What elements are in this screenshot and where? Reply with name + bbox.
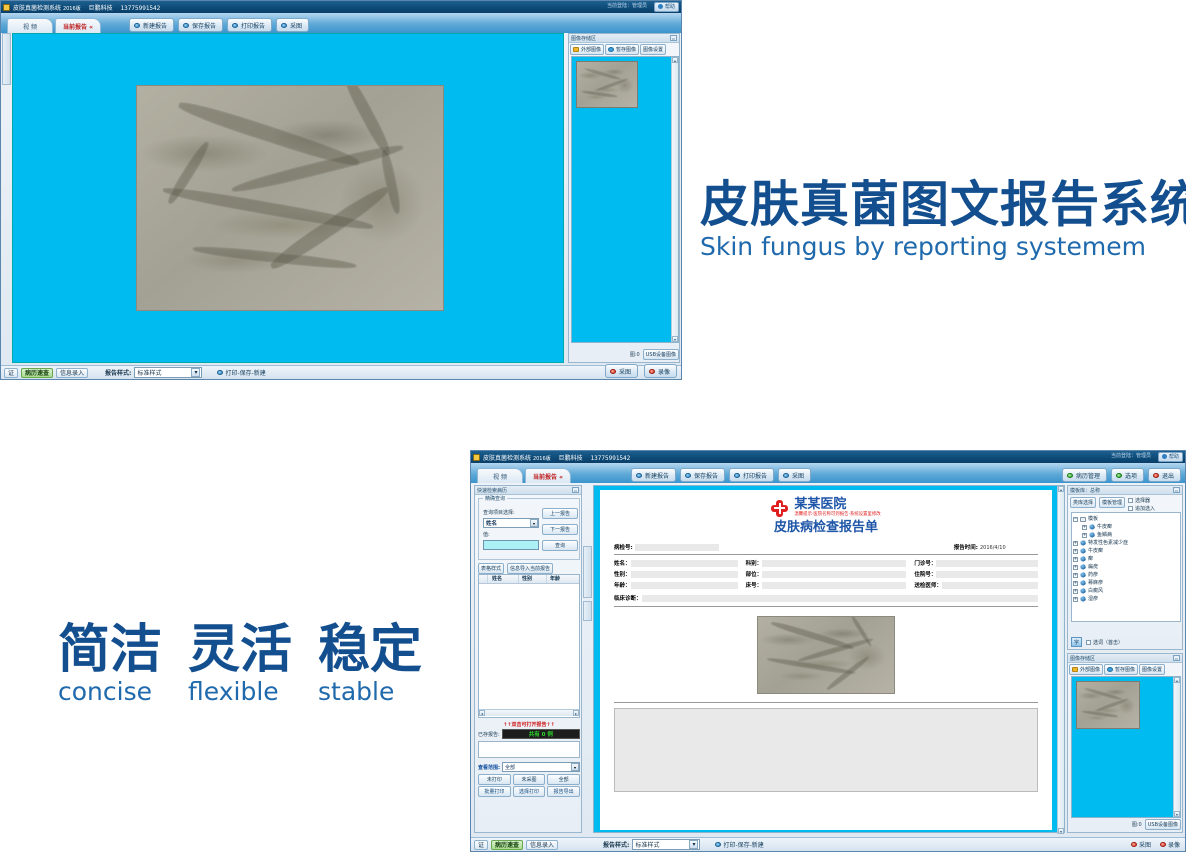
report-page[interactable]: 某某医院 温馨提示·医院名称可到报告·系统设置里修改 皮肤病检查报告单 病检号:… — [600, 490, 1052, 830]
capture-image-button-2[interactable]: 采图 — [778, 468, 811, 482]
scope-row: 查看范围: 全部 ▾ — [478, 762, 580, 772]
image-store-list-2[interactable]: ▴ ▾ — [1071, 676, 1181, 818]
buffer-image-label-2: 暂存图像 — [1115, 666, 1135, 673]
report-image-area — [600, 616, 1052, 694]
save-report-label-2: 保存报告 — [694, 471, 718, 480]
image-store-list[interactable]: ▴ ▾ — [571, 56, 679, 343]
tree-expander-icon[interactable]: + — [1073, 581, 1078, 586]
word-pick-checkbox-box[interactable] — [1086, 640, 1091, 645]
usb-device-image-button[interactable]: USB设备图像 — [643, 349, 679, 360]
print-save-new-icon — [217, 370, 223, 375]
template-collapse-icon[interactable]: ▫ — [1173, 487, 1180, 493]
filter-not-captured-label: 未采图 — [522, 776, 537, 783]
tree-item[interactable]: + 药疹 — [1073, 571, 1179, 579]
tree-item-label: 扁疣 — [1088, 563, 1098, 571]
external-image-button[interactable]: 外部图像 — [570, 44, 604, 55]
hospital-subtitle: 温馨提示·医院名称可到报告·系统设置里修改 — [794, 512, 880, 518]
headline-en: Skin fungus by reporting systemem — [700, 232, 1180, 262]
selector-checkbox[interactable]: 选择器 — [1128, 497, 1155, 504]
tree-item-label: 药疹 — [1088, 571, 1098, 579]
image-store-panel-2: 图像存储区 ▫ 外部图像 暂存图像 图像设置 — [1067, 653, 1183, 833]
library-select-button[interactable]: 类库选择 — [1070, 497, 1096, 508]
template-library-panel: 模板库：总称 ▫ 类库选择 模板管理 选择器 追加选入 — [1067, 485, 1183, 650]
report-microscope-image[interactable] — [757, 616, 895, 694]
field-row: 门诊号： — [914, 559, 1038, 567]
exit-button[interactable]: 退出 — [1148, 468, 1181, 482]
slogan-en-2: stable — [318, 678, 422, 706]
grid-gutter — [479, 575, 488, 583]
append-checkbox-box[interactable] — [1128, 506, 1133, 511]
status-bar: 证 病历速查 信息录入 报告样式: 标准样式 ▾ 打印-保存-新建 — [1, 365, 682, 379]
quick-search-caption: 快速检索病历 — [477, 487, 507, 494]
report-style-select[interactable]: 标准样式 ▾ — [134, 367, 202, 378]
report-time-label: 报告时间: — [954, 543, 978, 551]
print-save-new-icon-2 — [715, 842, 721, 847]
gear-icon — [1080, 540, 1086, 546]
field-department-value[interactable] — [762, 560, 906, 567]
field-inpatient-no-value[interactable] — [936, 571, 1038, 578]
slogan-item: 简洁 concise — [58, 622, 162, 706]
select-print-button[interactable]: 选择打印 — [513, 786, 546, 797]
save-report-icon-2 — [685, 473, 691, 478]
word-pick-checkbox[interactable]: 选词（首击） — [1086, 639, 1123, 646]
title-tel: 13775991542 — [121, 5, 161, 12]
tree-expander-icon[interactable]: + — [1082, 525, 1087, 530]
video-canvas[interactable] — [12, 33, 564, 363]
tree-item-label: 模板 — [1088, 515, 1098, 523]
field-age-label: 年龄： — [614, 581, 631, 589]
records-icon — [1067, 473, 1073, 478]
quick-search-button[interactable]: 病历速查 — [21, 368, 53, 378]
print-save-new-button-2[interactable]: 打印-保存-新建 — [715, 840, 763, 849]
usb-device-image-label: USB设备图像 — [646, 351, 676, 358]
cert-button-2[interactable]: 证 — [474, 840, 488, 850]
field-row: 住院号： — [914, 570, 1038, 578]
gear-icon — [1080, 556, 1086, 562]
folder-open-icon-2 — [1072, 667, 1078, 672]
tab-strip-2: 视 频 当前报告 « — [477, 463, 573, 483]
diagnosis-row: 临床诊断： — [614, 594, 1038, 602]
export-report-button[interactable]: 报告导出 — [547, 786, 580, 797]
slogan-cn-1: 灵活 — [188, 622, 292, 678]
image-store-panel: 图像存储区 ▫ 外部图像 暂存图像 图像设置 — [568, 33, 680, 363]
filter-not-captured-button[interactable]: 未采图 — [513, 774, 546, 785]
scroll-right-icon[interactable]: ▸ — [573, 710, 579, 716]
image-settings-label: 图像设置 — [643, 46, 663, 53]
field-select-chevron-icon[interactable]: ▾ — [530, 519, 538, 527]
scroll-down-icon[interactable]: ▾ — [672, 336, 678, 342]
field-bed-value[interactable] — [762, 582, 906, 589]
capture-icon-bottom — [610, 369, 616, 374]
field-row: 部位： — [746, 570, 907, 578]
report-title: 皮肤病检查报告单 — [600, 519, 1052, 537]
image-store-caption-2: 图像存储区 — [1070, 655, 1095, 662]
field-gender-value[interactable] — [631, 571, 738, 578]
external-image-button-2[interactable]: 外部图像 — [1069, 664, 1103, 675]
select-print-label: 选择打印 — [519, 788, 539, 795]
template-tree[interactable]: − 模板 + 牛皮癣 + 鱼鳞病 + 特发性色素减少症 — [1072, 513, 1180, 605]
template-tree-container[interactable]: − 模板 + 牛皮癣 + 鱼鳞病 + 特发性色素减少症 — [1071, 512, 1181, 622]
buffer-image-button[interactable]: 暂存图像 — [605, 44, 639, 55]
tree-item[interactable]: + 湿疹 — [1073, 595, 1179, 603]
image-store-scrollbar[interactable]: ▴ ▾ — [671, 57, 678, 342]
saved-reports-label: 已存报告: — [478, 731, 500, 738]
field-row: 姓名： — [614, 559, 738, 567]
tree-expander-icon[interactable]: + — [1073, 573, 1078, 578]
value-input[interactable] — [483, 540, 539, 550]
save-report-button[interactable]: 保存报告 — [178, 18, 223, 32]
capture-label: 采图 — [290, 21, 302, 30]
diagnosis-value[interactable] — [642, 595, 1038, 602]
field-select-label: 查询项目选择: — [483, 509, 515, 516]
help-label: 帮助 — [665, 3, 675, 10]
double-click-hint: ↑↑双击可打开报告↑↑ — [478, 721, 580, 728]
image-count-label-2: 图:0 — [1132, 821, 1142, 828]
field-row: 送检医师： — [914, 581, 1038, 589]
scroll-down-icon-2[interactable]: ▾ — [1174, 811, 1180, 817]
filter-all-label: 全部 — [559, 776, 569, 783]
import-to-current-button[interactable]: 信息导入当前报告 — [507, 563, 553, 574]
ribbon-button-group: 新建报告 保存报告 打印报告 采图 — [129, 18, 309, 32]
title-version-2: 2016版 — [533, 456, 551, 462]
main-app-window-bottom: 皮肤真菌检测系统 2016版 巨鹏科技 13775991542 当前登陆：管理员… — [470, 450, 1186, 852]
tree-item-label: 湿疹 — [1088, 595, 1098, 603]
microscope-image-main[interactable] — [136, 85, 444, 311]
current-login-label-2: 当前登陆：管理员 — [1111, 452, 1151, 459]
info-entry-button[interactable]: 信息录入 — [56, 368, 88, 378]
print-report-icon-2 — [734, 473, 740, 478]
help-button[interactable]: 帮助 — [654, 2, 679, 12]
cert-label: 证 — [8, 368, 14, 377]
table-style-label: 表格样式 — [481, 565, 501, 572]
external-image-label-2: 外部图像 — [1080, 666, 1100, 673]
tree-item[interactable]: + 扁疣 — [1073, 563, 1179, 571]
capture-image-button[interactable]: 采图 — [276, 18, 309, 32]
tree-item[interactable]: + 鱼鳞病 — [1073, 531, 1179, 539]
print-report-button[interactable]: 打印报告 — [227, 18, 272, 32]
chevron-down-icon-2[interactable]: ▾ — [689, 840, 698, 849]
saved-reports-row: 已存报告: 共有 0 例 — [478, 729, 580, 739]
hospital-block: 某某医院 温馨提示·医院名称可到报告·系统设置里修改 — [794, 498, 880, 518]
tree-item[interactable]: + 癣 — [1073, 555, 1179, 563]
template-caption-bar: 模板库：总称 ▫ — [1068, 486, 1182, 495]
tree-item-label: 牛皮癣 — [1088, 547, 1103, 555]
tree-expander-icon[interactable]: − — [1073, 517, 1078, 522]
new-report-icon — [134, 23, 140, 28]
tree-expander-icon[interactable]: + — [1073, 565, 1078, 570]
usb-device-image-label-2: USB设备图像 — [1148, 821, 1178, 828]
title-version: 2016版 — [63, 6, 81, 12]
quick-search-caption-bar: 快速检索病历 ▫ — [475, 486, 581, 495]
tab-strip: 视 频 当前报告 « — [7, 13, 103, 33]
ribbon-bar: 视 频 当前报告 « 新建报告 保存报告 打印报告 采图 — [1, 13, 681, 33]
image-store-toolbar-2: 外部图像 暂存图像 图像设置 — [1068, 663, 1182, 676]
image-settings-button-2[interactable]: 图像设置 — [1139, 664, 1165, 675]
field-name-value[interactable] — [631, 560, 738, 567]
tab-current-report-label: 当前报告 « — [63, 22, 93, 31]
field-outpatient-no-value[interactable] — [936, 560, 1038, 567]
window-title: 皮肤真菌检测系统 2016版 巨鹏科技 13775991542 — [13, 3, 160, 12]
field-site-label: 部位： — [746, 570, 763, 578]
scope-select[interactable]: 全部 ▾ — [502, 762, 580, 772]
findings-textarea[interactable] — [614, 708, 1038, 792]
report-document-area[interactable]: 某某医院 温馨提示·医院名称可到报告·系统设置里修改 皮肤病检查报告单 病检号:… — [593, 485, 1065, 833]
panel-splitter-left-2[interactable] — [583, 601, 592, 621]
buffer-image-icon-2 — [1107, 667, 1113, 672]
help-button-2[interactable]: 帮助 — [1158, 452, 1183, 462]
records-management-button[interactable]: 病历管理 — [1062, 468, 1107, 482]
field-site-value[interactable] — [762, 571, 906, 578]
scroll-up-icon-2[interactable]: ▴ — [1174, 677, 1180, 683]
capture-label-2: 采图 — [792, 471, 804, 480]
save-report-icon — [183, 23, 189, 28]
chevron-down-icon[interactable]: ▾ — [191, 368, 200, 377]
selector-checkbox-box[interactable] — [1128, 498, 1133, 503]
tab-video-label-2: 视 频 — [493, 472, 507, 481]
slogan-cn-0: 简洁 — [58, 622, 162, 678]
field-gender-label: 性别： — [614, 570, 631, 578]
tree-item-label: 鱼鳞病 — [1097, 531, 1112, 539]
lock-icon — [3, 4, 10, 11]
table-style-button[interactable]: 表格样式 — [478, 563, 504, 574]
report-scroll-down-icon[interactable]: ▾ — [1058, 828, 1064, 834]
scope-chevron-icon[interactable]: ▾ — [571, 763, 579, 771]
search-button[interactable]: 查询 — [542, 540, 578, 551]
tree-item[interactable]: + 牛皮癣 — [1073, 523, 1179, 531]
table-toolbar: 表格样式 信息导入当前报告 — [478, 563, 580, 574]
header-rule-2 — [614, 606, 1038, 607]
tree-item-label: 白癜风 — [1088, 587, 1103, 595]
result-grid-hscrollbar[interactable]: ◂ ▸ — [479, 709, 579, 716]
image-store-scrollbar-2[interactable]: ▴ ▾ — [1173, 677, 1180, 817]
title-corp: 巨鹏科技 — [89, 5, 113, 12]
case-no-value[interactable] — [635, 544, 719, 551]
batch-print-button[interactable]: 批量打印 — [478, 786, 511, 797]
tab-video-label: 视 频 — [23, 22, 37, 31]
tree-item-label: 牛皮癣 — [1097, 523, 1112, 531]
info-entry-label: 信息录入 — [60, 368, 84, 377]
gear-icon — [1080, 588, 1086, 594]
scroll-up-icon[interactable]: ▴ — [672, 57, 678, 63]
print-save-new-label-2: 打印-保存-新建 — [723, 840, 763, 849]
options-button[interactable]: 选项 — [1111, 468, 1144, 482]
prev-report-button[interactable]: 上一报告 — [542, 508, 578, 519]
filter-all-button[interactable]: 全部 — [547, 774, 580, 785]
tree-item-label: 特发性色素减少症 — [1088, 539, 1128, 547]
record-button-bottom[interactable]: 录像 — [644, 364, 677, 378]
save-report-label: 保存报告 — [192, 21, 216, 30]
insert-word-button[interactable]: 字 — [1071, 637, 1082, 647]
tree-item[interactable]: + 白癜风 — [1073, 587, 1179, 595]
append-checkbox-label: 追加选入 — [1135, 505, 1155, 512]
result-grid-header: 姓名 性别 年龄 — [479, 575, 579, 584]
report-style-select-2[interactable]: 标准样式 ▾ — [632, 839, 700, 850]
new-report-label: 新建报告 — [143, 21, 167, 30]
slogan-item: 稳定 stable — [318, 622, 422, 706]
usb-device-image-button-2[interactable]: USB设备图像 — [1145, 819, 1181, 830]
thumbnail-image-2[interactable] — [1076, 681, 1140, 729]
cert-button[interactable]: 证 — [4, 368, 18, 378]
print-save-new-button[interactable]: 打印-保存-新建 — [217, 368, 265, 377]
filter-not-printed-label: 未打印 — [487, 776, 502, 783]
insert-word-label: 字 — [1074, 639, 1079, 646]
exit-icon — [1153, 473, 1159, 478]
save-report-button-2[interactable]: 保存报告 — [680, 468, 725, 482]
gear-icon — [1080, 564, 1086, 570]
lock-icon-2 — [473, 454, 480, 461]
cert-label-2: 证 — [478, 840, 484, 849]
quick-search-label: 病历速查 — [25, 368, 49, 377]
panel-collapse-icon[interactable]: ▫ — [670, 35, 677, 41]
ribbon-bar-2: 视 频 当前报告 « 新建报告 保存报告 打印报告 采图 — [471, 463, 1185, 483]
tree-expander-icon[interactable]: + — [1073, 589, 1078, 594]
value-label: 值: — [483, 531, 490, 538]
report-style-value: 标准样式 — [137, 368, 161, 377]
records-label: 病历管理 — [1076, 471, 1100, 480]
result-grid[interactable]: 姓名 性别 年龄 ◂ ▸ — [478, 574, 580, 718]
marketing-headline-block: 皮肤真菌图文报告系统 Skin fungus by reporting syst… — [700, 178, 1180, 262]
gear-icon — [1080, 596, 1086, 602]
quick-search-label-2: 病历速查 — [495, 840, 519, 849]
record-icon-bottom — [649, 369, 655, 374]
new-report-icon-2 — [636, 473, 642, 478]
tree-expander-icon[interactable]: + — [1073, 597, 1078, 602]
next-report-label: 下一报告 — [550, 526, 570, 533]
field-row: 床号： — [746, 581, 907, 589]
new-report-button-2[interactable]: 新建报告 — [631, 468, 676, 482]
left-vertical-strip — [2, 33, 11, 85]
capture-icon — [281, 23, 287, 28]
report-style-label: 报告样式: — [105, 368, 131, 377]
image-count-label: 图:0 — [630, 351, 640, 358]
saved-reports-count: 共有 0 例 — [529, 730, 553, 738]
template-footer: 字 选词（首击） — [1071, 637, 1181, 647]
slogan-item: 灵活 flexible — [188, 622, 292, 706]
external-image-label: 外部图像 — [581, 46, 601, 53]
headline-cn: 皮肤真菌图文报告系统 — [700, 178, 1180, 232]
image-store-collapse-icon-2[interactable]: ▫ — [1173, 655, 1180, 661]
template-checkbox-group: 选择器 追加选入 — [1128, 497, 1155, 512]
image-settings-button[interactable]: 图像设置 — [640, 44, 666, 55]
hospital-cross-icon — [771, 500, 788, 517]
record-button-bottom-2[interactable]: 录像 — [1160, 840, 1180, 849]
field-department-label: 科别： — [746, 559, 763, 567]
result-grid-body[interactable] — [479, 584, 579, 709]
template-caption: 模板库：总称 — [1070, 487, 1100, 494]
field-age-value[interactable] — [631, 582, 738, 589]
field-row: 科别： — [746, 559, 907, 567]
capture-label-bottom: 采图 — [619, 367, 631, 376]
tree-expander-icon[interactable]: + — [1082, 533, 1087, 538]
tab-current-report-2[interactable]: 当前报告 « — [525, 468, 571, 483]
gear-icon — [1089, 532, 1095, 538]
help-icon-2 — [1162, 454, 1167, 459]
action-button-row: 批量打印 选择打印 报告导出 — [478, 786, 580, 797]
capture-button-bottom-2[interactable]: 采图 — [1131, 840, 1151, 849]
new-report-label-2: 新建报告 — [645, 471, 669, 480]
exit-label: 退出 — [1162, 471, 1174, 480]
panel-splitter-left[interactable] — [583, 546, 592, 598]
capture-button-bottom[interactable]: 采图 — [605, 364, 638, 378]
field-select[interactable]: 姓名 ▾ — [483, 518, 539, 528]
field-referring-doctor-value[interactable] — [942, 582, 1038, 589]
template-manage-button[interactable]: 模板管理 — [1099, 497, 1125, 508]
field-row: 性别： — [614, 570, 738, 578]
new-report-button[interactable]: 新建报告 — [129, 18, 174, 32]
buffer-image-label: 暂存图像 — [616, 46, 636, 53]
print-save-new-label: 打印-保存-新建 — [225, 368, 265, 377]
report-scroll-up-icon[interactable]: ▴ — [1058, 486, 1064, 492]
word-pick-checkbox-label: 选词（首击） — [1093, 639, 1123, 646]
current-login-label: 当前登陆：管理员 — [607, 2, 647, 9]
tree-expander-icon[interactable]: + — [1073, 549, 1078, 554]
tree-item[interactable]: + 蕁麻疹 — [1073, 579, 1179, 587]
tree-item-label: 癣 — [1088, 555, 1093, 563]
tree-item[interactable]: + 牛皮癣 — [1073, 547, 1179, 555]
tab-video[interactable]: 视 频 — [7, 18, 53, 33]
hospital-name: 某某医院 — [794, 498, 880, 512]
field-outpatient-no-label: 门诊号： — [914, 559, 936, 567]
tree-expander-icon[interactable]: + — [1073, 541, 1078, 546]
quick-search-button-2[interactable]: 病历速查 — [491, 840, 523, 850]
print-report-label: 打印报告 — [241, 21, 265, 30]
next-report-button[interactable]: 下一报告 — [542, 524, 578, 535]
export-report-label: 报告导出 — [554, 788, 574, 795]
scroll-left-icon[interactable]: ◂ — [479, 710, 485, 716]
capture-record-group: 采图 录像 — [605, 364, 677, 378]
saved-reports-count-display: 共有 0 例 — [502, 729, 580, 739]
report-vertical-scrollbar[interactable]: ▴ ▾ — [1057, 486, 1064, 834]
filter-not-printed-button[interactable]: 未打印 — [478, 774, 511, 785]
report-header: 某某医院 温馨提示·医院名称可到报告·系统设置里修改 — [600, 490, 1052, 518]
case-no-label: 病检号: — [614, 543, 633, 551]
diagnosis-label: 临床诊断： — [614, 594, 642, 602]
append-checkbox[interactable]: 追加选入 — [1128, 505, 1155, 512]
tab-video-2[interactable]: 视 频 — [477, 468, 523, 483]
tree-item[interactable]: − 模板 — [1073, 515, 1179, 523]
saved-reports-textbox[interactable] — [478, 741, 580, 758]
capture-label-bottom-2: 采图 — [1139, 840, 1151, 849]
print-report-icon — [232, 23, 238, 28]
title-corp-2: 巨鹏科技 — [559, 455, 583, 462]
help-icon — [658, 4, 663, 9]
image-store-caption: 图像存储区 — [571, 35, 596, 42]
scope-label: 查看范围: — [478, 764, 500, 771]
image-store-footer: 图:0 USB设备图像 — [571, 349, 679, 360]
tree-item[interactable]: + 特发性色素减少症 — [1073, 539, 1179, 547]
folder-open-icon — [573, 47, 579, 52]
options-icon — [1116, 473, 1122, 478]
status-bar-2: 证 病历速查 信息录入 报告样式: 标准样式 ▾ 打印-保存-新建 采图 录像 — [471, 837, 1186, 851]
tree-expander-icon[interactable]: + — [1073, 557, 1078, 562]
image-store-toolbar: 外部图像 暂存图像 图像设置 — [569, 43, 679, 56]
tab-current-report[interactable]: 当前报告 « — [55, 18, 101, 33]
quick-search-collapse-icon[interactable]: ▫ — [572, 487, 579, 493]
case-no-row: 病检号: 报告时间: 2016/4/10 — [614, 543, 1038, 551]
print-report-button-2[interactable]: 打印报告 — [729, 468, 774, 482]
batch-print-label: 批量打印 — [484, 788, 504, 795]
thumbnail-image-1[interactable] — [576, 61, 638, 108]
slogan-cn-2: 稳定 — [318, 622, 422, 678]
buffer-image-button-2[interactable]: 暂存图像 — [1104, 664, 1138, 675]
title-main: 皮肤真菌检测系统 — [13, 5, 61, 12]
print-report-label-2: 打印报告 — [743, 471, 767, 480]
info-entry-button-2[interactable]: 信息录入 — [526, 840, 558, 850]
field-name-label: 姓名： — [614, 559, 631, 567]
patient-fields-col-3: 门诊号： 住院号： 送检医师： — [914, 559, 1038, 589]
grid-col-age: 年龄 — [547, 575, 579, 583]
scope-value: 全部 — [503, 764, 515, 771]
